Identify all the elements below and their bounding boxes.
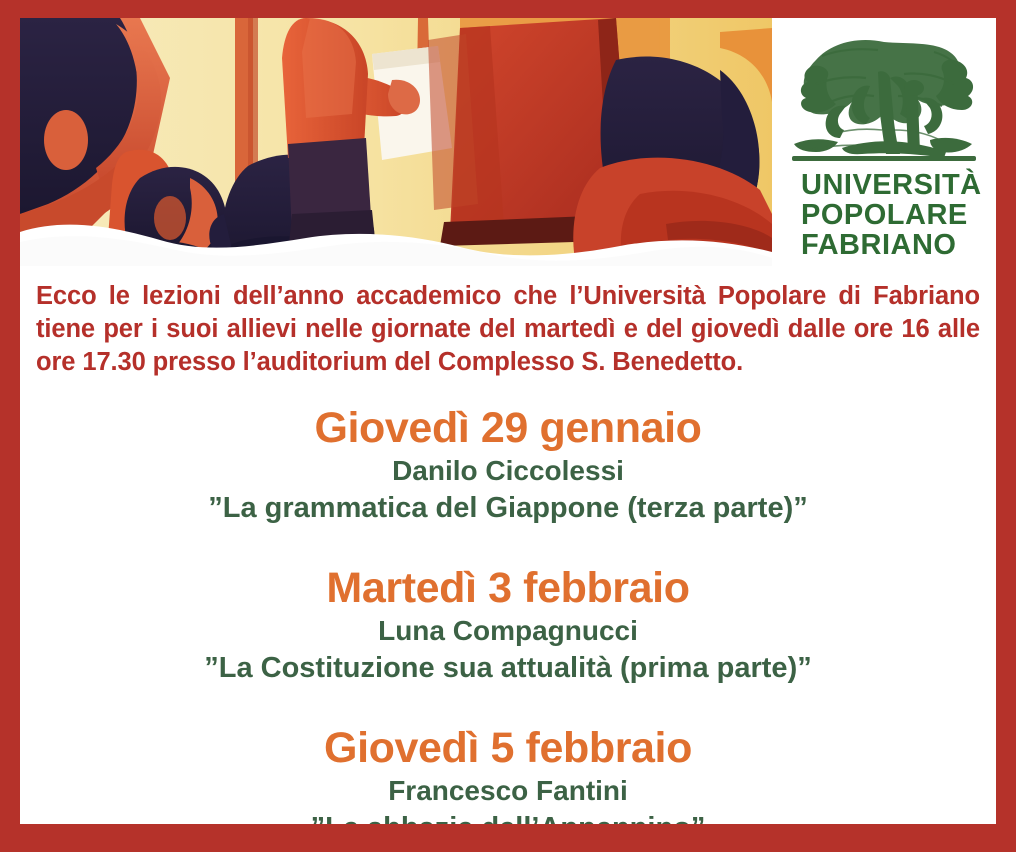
- intro-paragraph: Ecco le lezioni dell’anno accademico che…: [36, 280, 980, 379]
- poster: UNIVERSITÀ POPOLARE FABRIANO Ecco le lez…: [0, 0, 1016, 852]
- logo-line-universita: UNIVERSITÀ: [801, 170, 977, 200]
- lecture-list: Giovedì 29 gennaio Danilo Ciccolessi ”La…: [20, 403, 996, 824]
- lecture-title: ”La grammatica del Giappone (terza parte…: [20, 489, 996, 527]
- lecture-speaker: Danilo Ciccolessi: [20, 453, 996, 489]
- header-band: UNIVERSITÀ POPOLARE FABRIANO: [20, 18, 996, 266]
- lecture-audience-illustration: [20, 18, 772, 266]
- lecture-date: Giovedì 29 gennaio: [20, 403, 996, 453]
- lecture-speaker: Francesco Fantini: [20, 773, 996, 809]
- poster-content: UNIVERSITÀ POPOLARE FABRIANO Ecco le lez…: [20, 18, 996, 824]
- lecture-date: Martedì 3 febbraio: [20, 563, 996, 613]
- list-item: Giovedì 29 gennaio Danilo Ciccolessi ”La…: [20, 403, 996, 527]
- illustration-svg: [20, 18, 772, 266]
- tree-emblem-icon: [786, 26, 982, 166]
- logo-line-popolare: POPOLARE: [801, 200, 977, 230]
- university-logo: UNIVERSITÀ POPOLARE FABRIANO: [772, 18, 996, 266]
- lecture-date: Giovedì 5 febbraio: [20, 723, 996, 773]
- lecture-speaker: Luna Compagnucci: [20, 613, 996, 649]
- logo-line-fabriano: FABRIANO: [801, 230, 977, 260]
- lecture-title: ”Le abbazie dell’Appennino”: [20, 809, 996, 824]
- lecture-title: ”La Costituzione sua attualità (prima pa…: [20, 649, 996, 687]
- logo-wordmark: UNIVERSITÀ POPOLARE FABRIANO: [791, 170, 977, 260]
- list-item: Giovedì 5 febbraio Francesco Fantini ”Le…: [20, 723, 996, 824]
- list-item: Martedì 3 febbraio Luna Compagnucci ”La …: [20, 563, 996, 687]
